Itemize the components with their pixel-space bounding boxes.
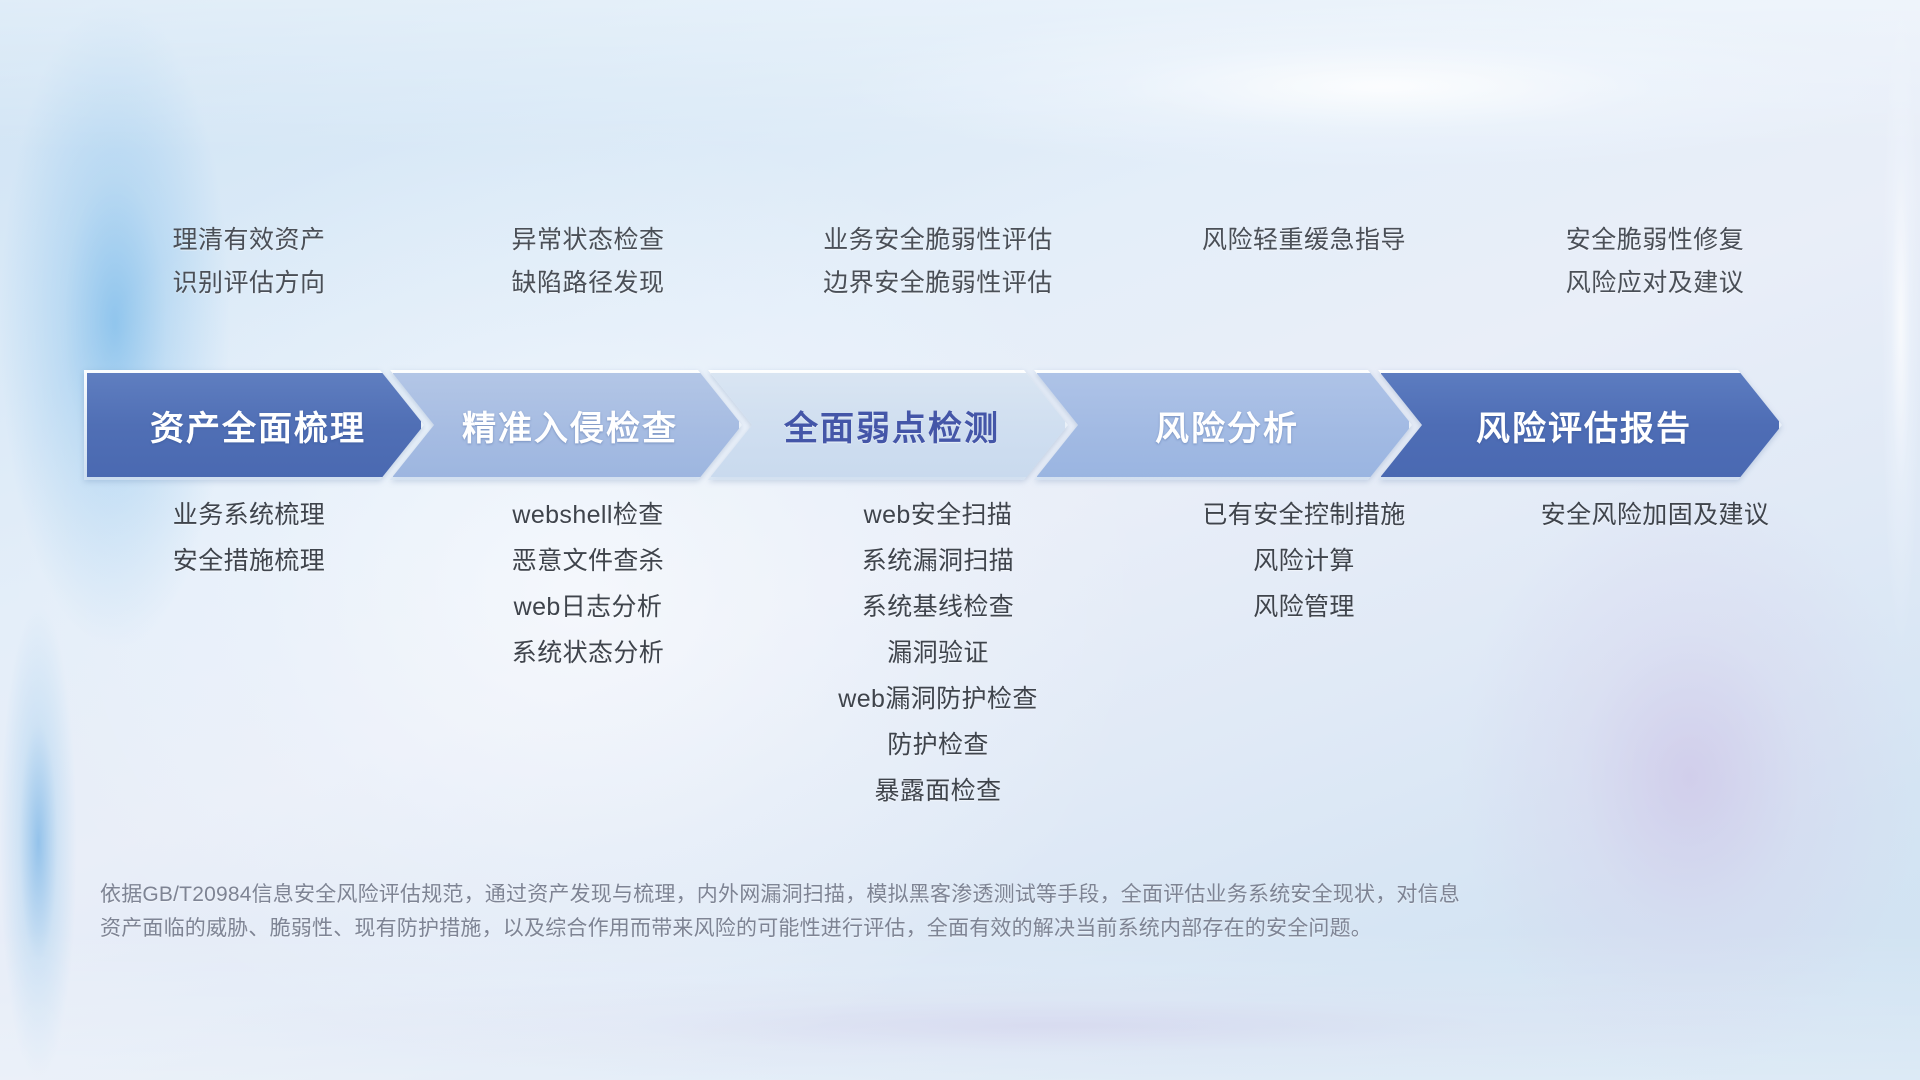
top-note-line: 边界安全脆弱性评估 [823, 269, 1053, 298]
chevron-step-1[interactable]: 资产全面梳理 [84, 370, 424, 480]
chevron-label: 全面弱点检测 [776, 401, 1000, 450]
top-note-column-5: 安全脆弱性修复 风险应对及建议 [1490, 226, 1820, 298]
top-note-column-3: 业务安全脆弱性评估 边界安全脆弱性评估 [758, 226, 1118, 298]
list-item: 恶意文件查杀 [512, 546, 664, 576]
bottom-list-column-5: 安全风险加固及建议 [1490, 500, 1820, 530]
list-item: web安全扫描 [864, 500, 1013, 530]
list-item: 系统状态分析 [512, 638, 664, 668]
chevron-label: 资产全面梳理 [142, 401, 366, 450]
top-notes-row: 理清有效资产 识别评估方向 异常状态检查 缺陷路径发现 业务安全脆弱性评估 边界… [80, 226, 1880, 298]
list-item: web日志分析 [514, 592, 663, 622]
top-note-line: 异常状态检查 [511, 226, 664, 255]
list-item: 风险计算 [1253, 546, 1355, 576]
list-item: 风险管理 [1253, 592, 1355, 622]
top-note-line: 风险轻重缓急指导 [1202, 226, 1406, 255]
footer-line-1: 依据GB/T20984信息安全风险评估规范，通过资产发现与梳理，内外网漏洞扫描，… [100, 878, 1660, 912]
top-note-column-2: 异常状态检查 缺陷路径发现 [418, 226, 758, 298]
list-item: 系统基线检查 [862, 592, 1014, 622]
top-note-line: 识别评估方向 [172, 269, 325, 298]
top-note-column-4: 风险轻重缓急指导 [1118, 226, 1490, 255]
bottom-list-column-1: 业务系统梳理 安全措施梳理 [80, 500, 418, 576]
top-note-column-1: 理清有效资产 识别评估方向 [80, 226, 418, 298]
chevron-label: 风险评估报告 [1468, 401, 1692, 450]
bottom-lists-row: 业务系统梳理 安全措施梳理 webshell检查 恶意文件查杀 web日志分析 … [80, 500, 1880, 806]
chevron-label: 风险分析 [1147, 401, 1299, 450]
footer-description: 依据GB/T20984信息安全风险评估规范，通过资产发现与梳理，内外网漏洞扫描，… [100, 878, 1660, 946]
list-item: 漏洞验证 [887, 638, 989, 668]
footer-line-2: 资产面临的威胁、脆弱性、现有防护措施，以及综合作用而带来风险的可能性进行评估，全… [100, 912, 1660, 946]
bottom-list-column-3: web安全扫描 系统漏洞扫描 系统基线检查 漏洞验证 web漏洞防护检查 防护检… [758, 500, 1118, 806]
chevron-step-5[interactable]: 风险评估报告 [1378, 370, 1782, 480]
chevron-step-4[interactable]: 风险分析 [1034, 370, 1412, 480]
chevron-step-2[interactable]: 精准入侵检查 [390, 370, 742, 480]
list-item: 安全措施梳理 [173, 546, 325, 576]
chevron-label: 精准入侵检查 [454, 401, 678, 450]
list-item: webshell检查 [512, 500, 663, 530]
top-note-line: 风险应对及建议 [1566, 269, 1745, 298]
top-note-line: 缺陷路径发现 [511, 269, 664, 298]
top-note-line: 业务安全脆弱性评估 [823, 226, 1053, 255]
list-item: web漏洞防护检查 [838, 684, 1037, 714]
bottom-list-column-2: webshell检查 恶意文件查杀 web日志分析 系统状态分析 [418, 500, 758, 668]
top-note-line: 安全脆弱性修复 [1566, 226, 1745, 255]
process-chevron-band: 资产全面梳理 精准入侵检查 全面弱点检测 [84, 370, 1850, 480]
chevron-step-3[interactable]: 全面弱点检测 [708, 370, 1068, 480]
slide-canvas: 理清有效资产 识别评估方向 异常状态检查 缺陷路径发现 业务安全脆弱性评估 边界… [0, 0, 1920, 1080]
top-note-line: 理清有效资产 [172, 226, 325, 255]
list-item: 已有安全控制措施 [1202, 500, 1405, 530]
bottom-list-column-4: 已有安全控制措施 风险计算 风险管理 [1118, 500, 1490, 622]
list-item: 业务系统梳理 [173, 500, 325, 530]
list-item: 系统漏洞扫描 [862, 546, 1014, 576]
list-item: 暴露面检查 [874, 776, 1001, 806]
list-item: 防护检查 [887, 730, 989, 760]
list-item: 安全风险加固及建议 [1541, 500, 1770, 530]
